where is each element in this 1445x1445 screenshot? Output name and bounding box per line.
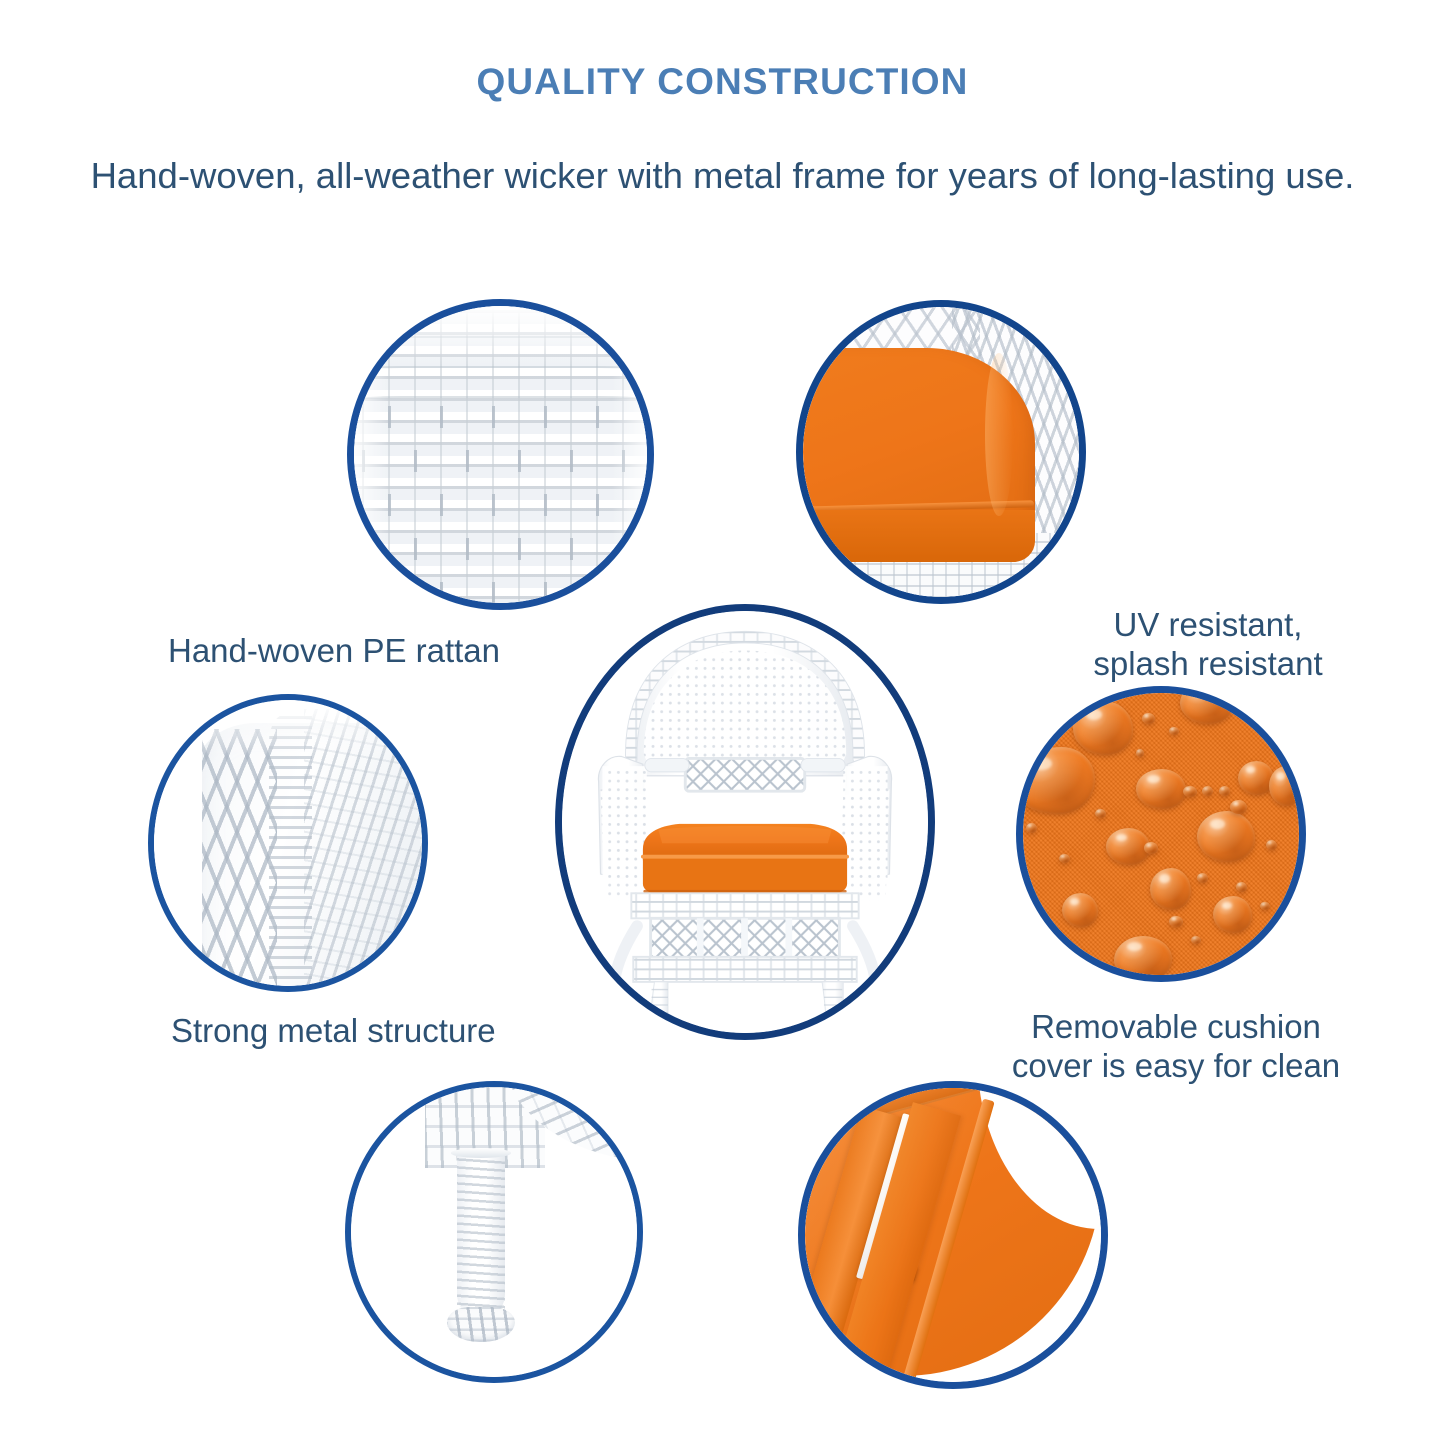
white-wicker-armchair bbox=[562, 611, 928, 1033]
water-droplet bbox=[1106, 828, 1150, 865]
cushion-zipper-closeup bbox=[805, 1088, 1101, 1382]
water-droplet bbox=[1230, 800, 1247, 814]
chair-illustration bbox=[562, 611, 928, 1033]
caption-strong-metal-structure: Strong metal structure bbox=[171, 1012, 611, 1051]
feature-image-uv-splash-resistant bbox=[796, 300, 1086, 604]
page-subtitle: Hand-woven, all-weather wicker with meta… bbox=[0, 155, 1445, 197]
water-droplet bbox=[1191, 936, 1201, 944]
header: QUALITY CONSTRUCTION Hand-woven, all-wea… bbox=[0, 0, 1445, 197]
water-droplet bbox=[1136, 769, 1186, 808]
water-droplet bbox=[1197, 873, 1208, 883]
water-droplet bbox=[1169, 916, 1183, 927]
water-droplet bbox=[1142, 713, 1156, 724]
water-droplet bbox=[1213, 896, 1252, 933]
water-droplet bbox=[1183, 786, 1197, 797]
orange-fabric-texture bbox=[1023, 693, 1299, 975]
feature-image-full-chair bbox=[555, 604, 935, 1040]
water-droplet bbox=[1114, 936, 1172, 975]
water-droplet bbox=[1059, 854, 1070, 864]
water-droplet bbox=[1169, 727, 1179, 735]
water-droplet bbox=[1260, 902, 1269, 910]
feature-image-chair-leg-detail bbox=[345, 1081, 643, 1383]
caption-uv-splash-resistant: UV resistant, splash resistant bbox=[1048, 606, 1368, 684]
water-droplet bbox=[1095, 809, 1106, 819]
armrest-closeup bbox=[154, 700, 422, 986]
water-droplet bbox=[1023, 747, 1095, 815]
chair-leg-closeup bbox=[351, 1087, 637, 1377]
water-droplet bbox=[1266, 840, 1277, 850]
water-droplet bbox=[1136, 749, 1144, 756]
water-droplet bbox=[1236, 882, 1247, 892]
feature-image-hand-woven-pe-rattan bbox=[347, 299, 654, 610]
feature-image-cushion-zipper-detail bbox=[798, 1081, 1108, 1389]
rattan-weave-texture bbox=[354, 306, 647, 603]
feature-image-strong-metal-structure bbox=[148, 694, 428, 992]
cushion-closeup bbox=[803, 307, 1079, 597]
water-droplet bbox=[1026, 823, 1037, 833]
feature-image-removable-cushion-cover bbox=[1016, 686, 1306, 982]
water-droplet bbox=[1197, 811, 1255, 862]
water-droplets-on-fabric bbox=[1023, 693, 1299, 975]
water-droplet bbox=[1073, 701, 1134, 755]
water-droplet bbox=[1219, 786, 1230, 796]
page-title: QUALITY CONSTRUCTION bbox=[0, 62, 1445, 103]
water-droplet bbox=[1202, 786, 1213, 796]
water-droplet bbox=[1062, 893, 1098, 927]
water-droplet bbox=[1150, 868, 1191, 910]
water-droplet bbox=[1269, 766, 1299, 805]
caption-removable-cushion-cover: Removable cushion cover is easy for clea… bbox=[1000, 1008, 1352, 1086]
caption-hand-woven-pe-rattan: Hand-woven PE rattan bbox=[168, 632, 588, 671]
water-droplet bbox=[1144, 842, 1158, 853]
